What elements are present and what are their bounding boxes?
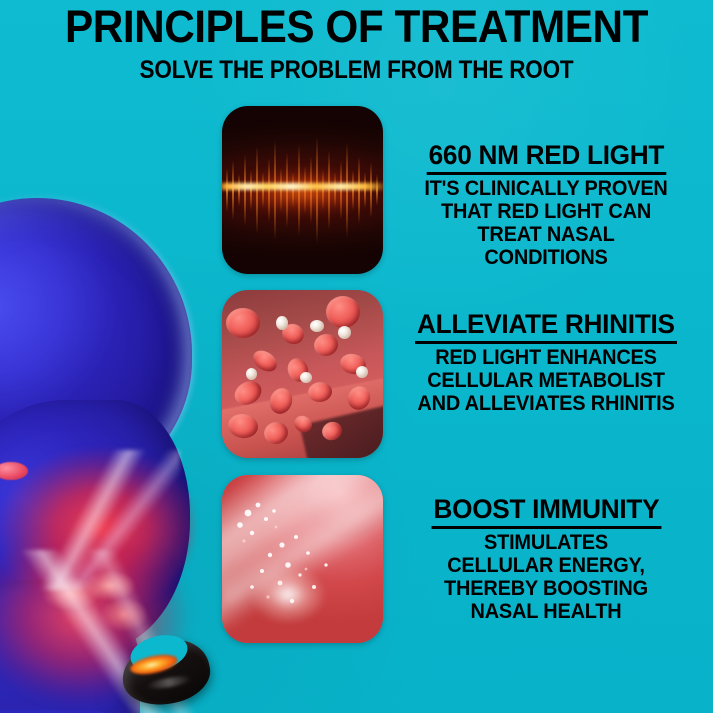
pituitary-gland	[0, 462, 28, 480]
section-heading: ALLEVIATE RHINITIS	[415, 309, 677, 344]
section-body: STIMULATES CELLULAR ENERGY, THEREBY BOOS…	[394, 531, 698, 623]
energy-flare	[251, 566, 325, 623]
section-body-line: THAT RED LIGHT CAN	[394, 200, 698, 223]
jaw-shape	[0, 580, 140, 713]
page-title: PRINCIPLES OF TREATMENT	[21, 2, 691, 52]
waveform-halo	[222, 163, 383, 220]
white-blood-cell	[276, 316, 288, 330]
head-anatomy-illustration	[0, 150, 260, 713]
face-profile-shape	[0, 400, 190, 650]
white-blood-cell	[310, 320, 324, 332]
section-body-line: CELLULAR METABOLIST	[394, 369, 698, 392]
section-image-red-light	[222, 106, 383, 274]
section-body: RED LIGHT ENHANCES CELLULAR METABOLIST A…	[394, 346, 698, 415]
light-beam-lower	[20, 550, 195, 713]
section-text-red-light: 660 NM RED LIGHT IT'S CLINICALLY PROVEN …	[386, 140, 706, 269]
light-beam-upper	[10, 450, 180, 590]
skull-shape	[0, 198, 192, 498]
red-blood-cell	[226, 308, 260, 338]
section-body-line: AND ALLEVIATES RHINITIS	[394, 392, 698, 415]
device-led-glow-icon	[129, 651, 179, 678]
waveform-core-beam	[222, 183, 383, 190]
white-blood-cell	[338, 326, 351, 339]
nasal-light-device	[117, 634, 216, 713]
red-blood-cell	[326, 296, 360, 328]
page-subtitle: SOLVE THE PROBLEM FROM THE ROOT	[36, 56, 678, 85]
white-blood-cell	[246, 368, 257, 380]
section-body-line: RED LIGHT ENHANCES	[394, 346, 698, 369]
device-notch	[127, 629, 192, 676]
section-body-line: CELLULAR ENERGY,	[394, 554, 698, 577]
white-blood-cell	[300, 372, 312, 383]
section-body: IT'S CLINICALLY PROVEN THAT RED LIGHT CA…	[394, 177, 698, 269]
skull-rim-highlight	[0, 196, 194, 500]
section-text-boost-immunity: BOOST IMMUNITY STIMULATES CELLULAR ENERG…	[386, 494, 706, 623]
device-gloss-highlight	[146, 674, 193, 691]
section-heading: 660 NM RED LIGHT	[426, 140, 665, 175]
treatment-principles-poster: PRINCIPLES OF TREATMENT SOLVE THE PROBLE…	[0, 0, 713, 713]
section-body-line: CONDITIONS	[394, 246, 698, 269]
section-text-alleviate-rhinitis: ALLEVIATE RHINITIS RED LIGHT ENHANCES CE…	[386, 309, 706, 415]
white-blood-cell	[356, 366, 368, 378]
brain-gyri-icon	[0, 202, 130, 482]
sinus-inflammation-glow	[0, 430, 195, 620]
nasal-cavity-glow	[0, 520, 200, 713]
section-body-line: STIMULATES	[394, 531, 698, 554]
section-image-energy-burst	[222, 475, 383, 643]
section-image-blood-cells	[222, 290, 383, 458]
section-body-line: IT'S CLINICALLY PROVEN	[394, 177, 698, 200]
section-body-line: TREAT NASAL	[394, 223, 698, 246]
nasal-turbinates	[40, 565, 160, 645]
section-body-line: THEREBY BOOSTING	[394, 577, 698, 600]
section-body-line: NASAL HEALTH	[394, 600, 698, 623]
section-heading: BOOST IMMUNITY	[431, 494, 661, 529]
